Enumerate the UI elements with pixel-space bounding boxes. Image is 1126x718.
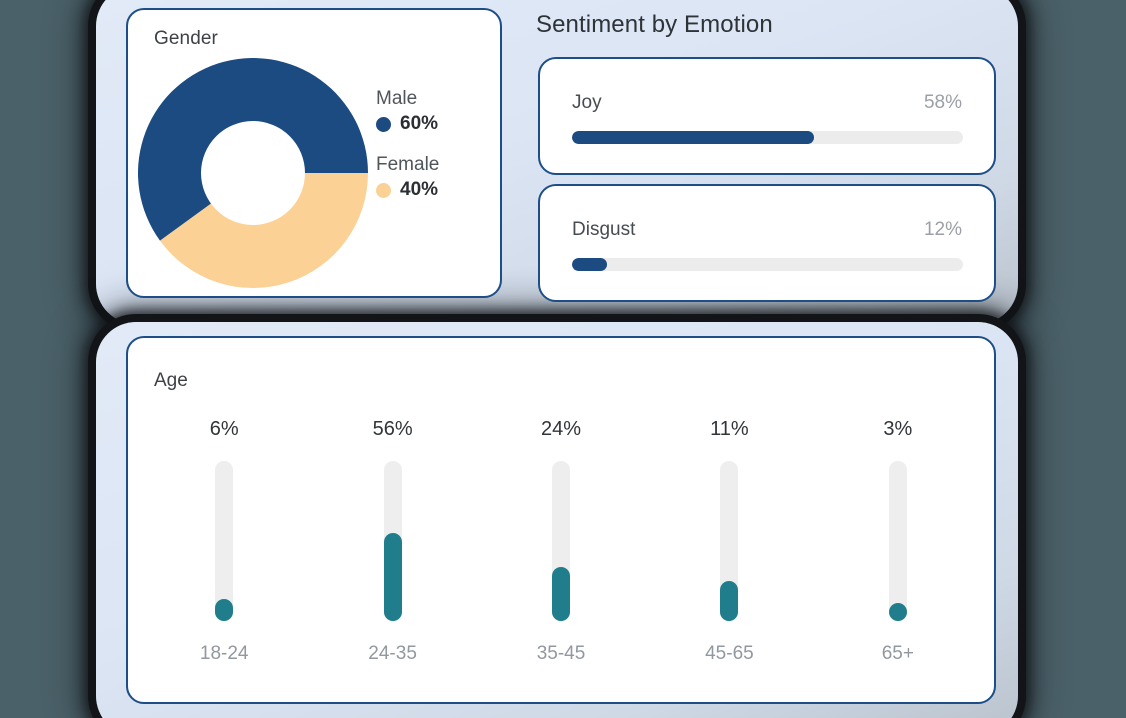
legend-dot-female	[376, 183, 391, 198]
legend-label-female: Female	[376, 154, 496, 176]
legend-value-male-row: 60%	[376, 113, 496, 135]
age-value: 11%	[710, 414, 749, 444]
age-column: 24%35-45	[477, 414, 645, 678]
age-bar-fill	[215, 599, 233, 621]
gender-donut-chart	[138, 58, 368, 288]
emotion-label-disgust: Disgust	[572, 219, 635, 241]
gender-card-title: Gender	[154, 28, 218, 50]
age-bar-track[interactable]	[552, 461, 570, 621]
age-bar-fill	[384, 533, 402, 621]
emotion-label-joy: Joy	[572, 92, 602, 114]
age-bar-track[interactable]	[720, 461, 738, 621]
emotion-card-disgust: Disgust 12%	[538, 184, 996, 302]
legend-value-male: 60%	[400, 113, 438, 135]
legend-label-male: Male	[376, 88, 496, 110]
age-bar-chart: 6%18-2456%24-3524%35-4511%45-653%65+	[140, 414, 982, 678]
age-label: 18-24	[200, 643, 249, 665]
emotion-progress-fill-joy	[572, 131, 814, 144]
emotion-progress-fill-disgust	[572, 258, 607, 271]
age-bar-fill	[889, 603, 907, 621]
age-bar-fill	[720, 581, 738, 621]
age-label: 45-65	[705, 643, 754, 665]
emotion-progress-track-joy[interactable]	[572, 131, 963, 144]
emotion-card-joy: Joy 58%	[538, 57, 996, 175]
legend-dot-male	[376, 117, 391, 132]
emotion-header-disgust: Disgust 12%	[572, 219, 962, 241]
donut-hole	[201, 121, 305, 225]
age-bar-fill	[552, 567, 570, 621]
age-label: 24-35	[368, 643, 417, 665]
legend-value-female: 40%	[400, 179, 438, 201]
donut-svg	[138, 58, 368, 288]
age-label: 65+	[882, 643, 914, 665]
age-card-title: Age	[154, 370, 188, 392]
age-value: 3%	[883, 414, 912, 444]
age-value: 56%	[373, 414, 413, 444]
age-value: 24%	[541, 414, 581, 444]
age-value: 6%	[210, 414, 239, 444]
legend-value-female-row: 40%	[376, 179, 496, 201]
emotion-value-joy: 58%	[924, 92, 962, 114]
legend-entry-male: Male 60%	[376, 88, 496, 135]
age-card: Age 6%18-2456%24-3524%35-4511%45-653%65+	[126, 336, 996, 704]
gender-card: Gender Male 60% Female	[126, 8, 502, 298]
age-bar-track[interactable]	[384, 461, 402, 621]
dashboard: Gender Male 60% Female	[0, 0, 1126, 718]
age-column: 6%18-24	[140, 414, 308, 678]
emotion-value-disgust: 12%	[924, 219, 962, 241]
age-column: 11%45-65	[645, 414, 813, 678]
emotion-header-joy: Joy 58%	[572, 92, 962, 114]
emotion-progress-track-disgust[interactable]	[572, 258, 963, 271]
sentiment-section-title: Sentiment by Emotion	[536, 11, 773, 39]
age-column: 56%24-35	[308, 414, 476, 678]
gender-legend: Male 60% Female 40%	[376, 88, 496, 220]
age-label: 35-45	[537, 643, 586, 665]
legend-entry-female: Female 40%	[376, 154, 496, 201]
age-column: 3%65+	[814, 414, 982, 678]
age-bar-track[interactable]	[889, 461, 907, 621]
age-bar-track[interactable]	[215, 461, 233, 621]
